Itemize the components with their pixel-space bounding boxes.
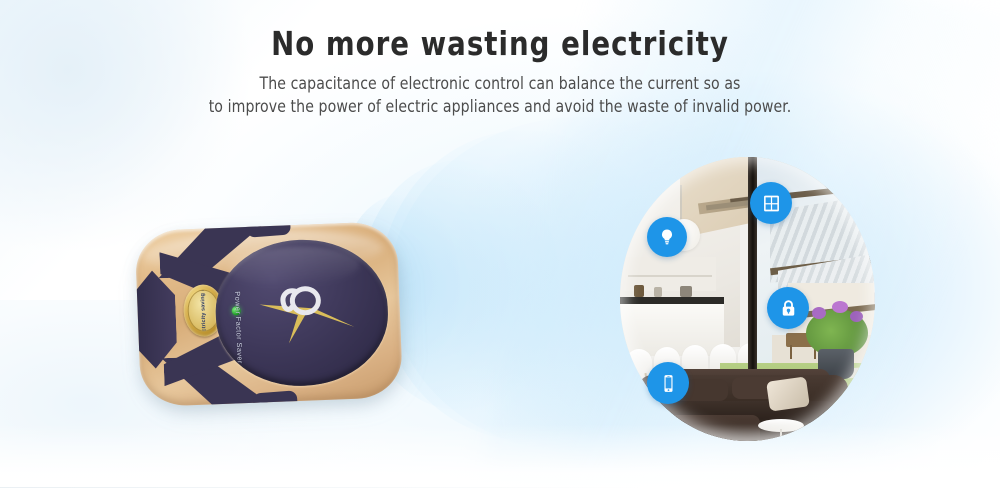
device-accent-left-edge (135, 270, 178, 370)
scene-kitchen-shelf (628, 275, 712, 277)
lightning-bolt-icon (257, 283, 357, 349)
lightbulb-icon (657, 227, 677, 247)
banner-subtitle: The capacitance of electronic control ca… (25, 72, 975, 118)
lock-icon (778, 298, 799, 319)
bottom-fade (0, 424, 1000, 494)
device-seal-label: Electricity saving box (200, 289, 208, 332)
scene-side-stool (634, 407, 670, 419)
scene-kitchen-item-3 (680, 286, 692, 297)
scene-patio-table-leg (790, 345, 792, 359)
bottom-hairline (0, 487, 640, 488)
scene-kitchen-countertop (620, 297, 724, 304)
feature-badge-mobile[interactable] (647, 362, 689, 404)
scene-kitchen-item-2 (654, 287, 662, 297)
promo-banner: No more wasting electricity The capacita… (0, 0, 1000, 494)
smartphone-icon (658, 373, 679, 394)
feature-badge-security[interactable] (767, 287, 809, 329)
scene-flower (812, 307, 826, 319)
banner-subtitle-line-1: The capacitance of electronic control ca… (25, 72, 975, 95)
scene-garden-rock (858, 373, 872, 382)
product-device: Electricity saving box Power Factor Save… (135, 221, 410, 415)
scene-pendant-cord (680, 185, 682, 223)
banner-title: No more wasting electricity (35, 24, 965, 63)
scene-throw-pillow (766, 376, 810, 411)
scene-kitchen-item-1 (634, 285, 644, 297)
scene-flower (850, 311, 863, 322)
feature-badge-lighting[interactable] (647, 217, 687, 257)
device-logo (257, 283, 357, 349)
banner-subtitle-line-2: to improve the power of electric applian… (25, 95, 975, 118)
scene-flower (832, 301, 848, 313)
feature-badge-appliances[interactable] (750, 182, 792, 224)
window-panel-icon (761, 193, 782, 214)
device-body: Electricity saving box Power Factor Save… (135, 221, 404, 407)
